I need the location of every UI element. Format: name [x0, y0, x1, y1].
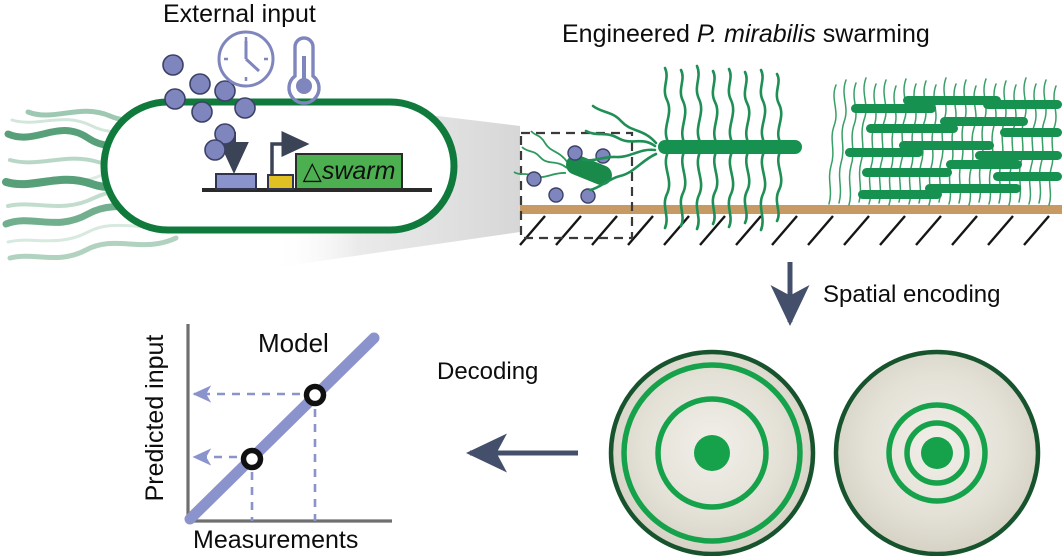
measurement-point-high [307, 387, 324, 404]
colony-low-input [611, 352, 813, 554]
input-sensor-protein [216, 174, 256, 189]
colony-high-input [836, 352, 1038, 554]
thermometer-icon [289, 38, 319, 103]
colony-center-dot [921, 437, 953, 469]
single-cell-inset [514, 131, 632, 238]
chart-model-line [190, 338, 374, 519]
agar-hatching [520, 216, 1049, 245]
agar-surface [520, 205, 1062, 214]
molecule-dot-icon [165, 89, 185, 109]
colony-center-dot [694, 435, 730, 471]
measurement-point-low [244, 451, 261, 468]
molecule-dot-icon [235, 98, 255, 118]
swarmer-cell-body [658, 140, 802, 154]
ribosome-binding-site [268, 175, 293, 189]
swarm-raft-dense [829, 78, 1062, 205]
molecule-dot-icon [205, 140, 225, 160]
molecule-dot-icon [163, 55, 183, 75]
clock-icon [219, 32, 273, 86]
molecule-dot-icon [192, 102, 212, 122]
molecule-dot-icon [215, 81, 235, 101]
model-chart [188, 324, 392, 521]
figure-root: External input Engineered P. mirabilis s… [0, 0, 1062, 556]
gene-cassette-label: △swarm [303, 157, 396, 185]
gene-name-text: swarm [322, 157, 396, 185]
gene-delta-symbol: △ [303, 157, 323, 185]
molecule-dot-icon [190, 74, 210, 94]
